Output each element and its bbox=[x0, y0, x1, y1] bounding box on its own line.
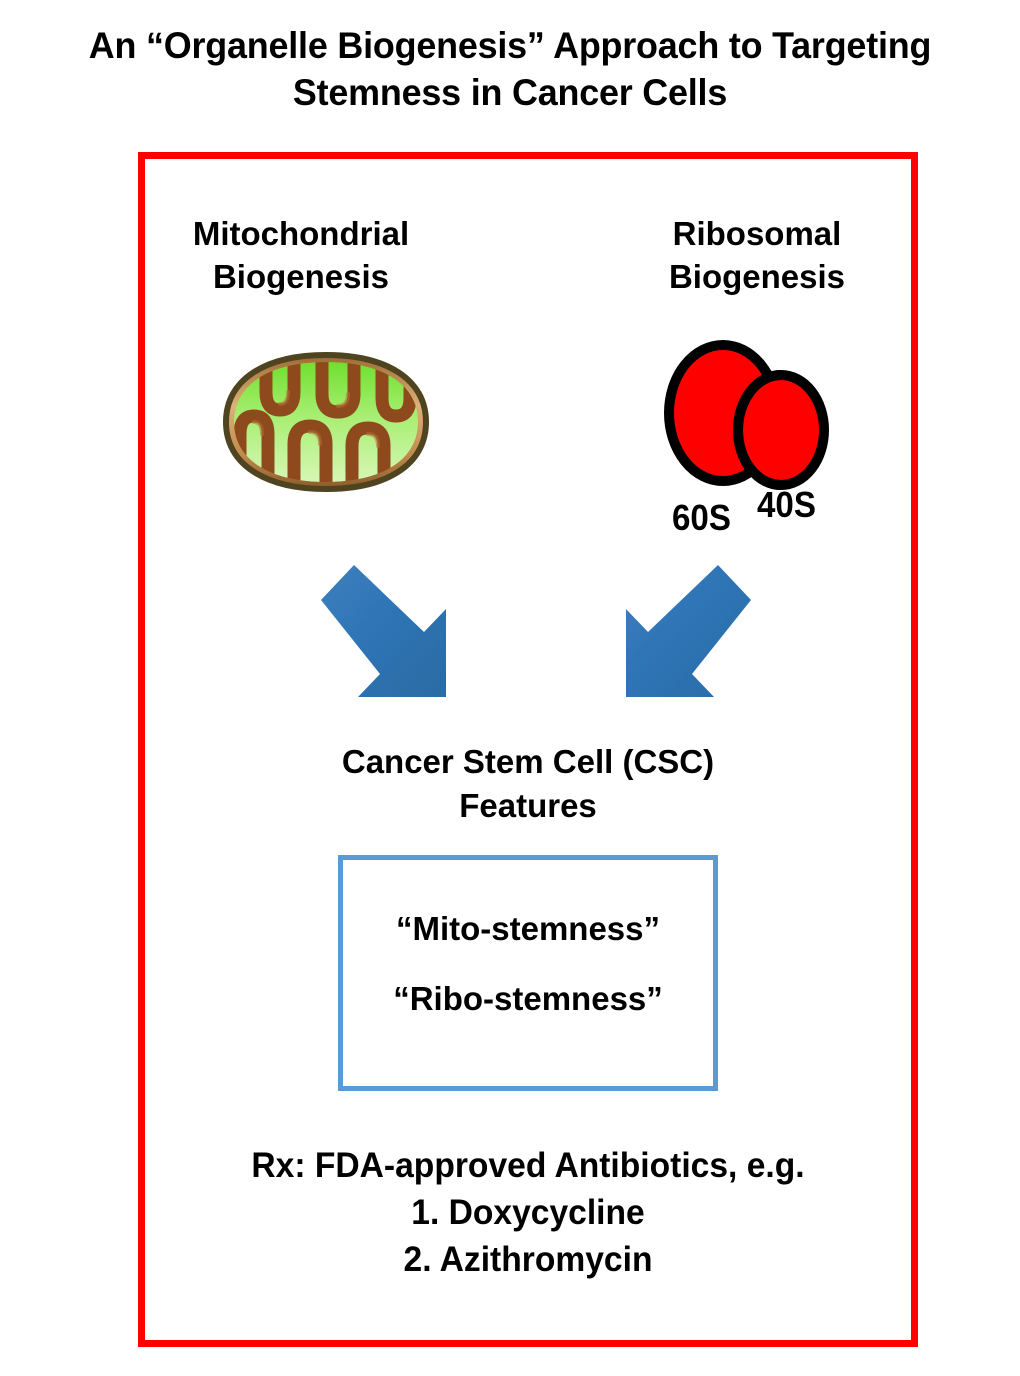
mitochondrial-biogenesis-label: Mitochondrial Biogenesis bbox=[166, 212, 436, 298]
csc-features-heading: Cancer Stem Cell (CSC) Features bbox=[138, 740, 918, 828]
stemness-list: “Mito-stemness” “Ribo-stemness” bbox=[338, 855, 718, 1091]
mitochondrial-label-line-2: Biogenesis bbox=[166, 255, 436, 298]
ribosomal-label-line-1: Ribosomal bbox=[622, 212, 892, 255]
csc-heading-line-2: Features bbox=[138, 784, 918, 828]
csc-heading-line-1: Cancer Stem Cell (CSC) bbox=[138, 740, 918, 784]
treatment-block: Rx: FDA-approved Antibiotics, e.g. 1. Do… bbox=[138, 1142, 918, 1283]
ribosome-icon bbox=[660, 335, 840, 505]
arrow-down-right-icon bbox=[316, 560, 452, 702]
mitochondrion-icon bbox=[218, 348, 434, 496]
ribosomal-label-line-2: Biogenesis bbox=[622, 255, 892, 298]
treatment-heading: Rx: FDA-approved Antibiotics, e.g. bbox=[154, 1142, 903, 1189]
figure-title-line-2: Stemness in Cancer Cells bbox=[15, 69, 1004, 116]
ribosome-60s-label: 60S bbox=[672, 500, 731, 536]
treatment-item-2: 2. Azithromycin bbox=[154, 1236, 903, 1283]
treatment-item-1: 1. Doxycycline bbox=[154, 1189, 903, 1236]
arrow-down-left-icon bbox=[620, 560, 756, 702]
figure-title-line-1: An “Organelle Biogenesis” Approach to Ta… bbox=[15, 22, 1004, 69]
mitochondrial-label-line-1: Mitochondrial bbox=[166, 212, 436, 255]
figure-title: An “Organelle Biogenesis” Approach to Ta… bbox=[15, 22, 1004, 116]
ribosome-40s-label: 40S bbox=[757, 487, 816, 523]
stemness-item-mito: “Mito-stemness” bbox=[396, 911, 660, 947]
stemness-item-ribo: “Ribo-stemness” bbox=[393, 981, 663, 1017]
ribosomal-biogenesis-label: Ribosomal Biogenesis bbox=[622, 212, 892, 298]
